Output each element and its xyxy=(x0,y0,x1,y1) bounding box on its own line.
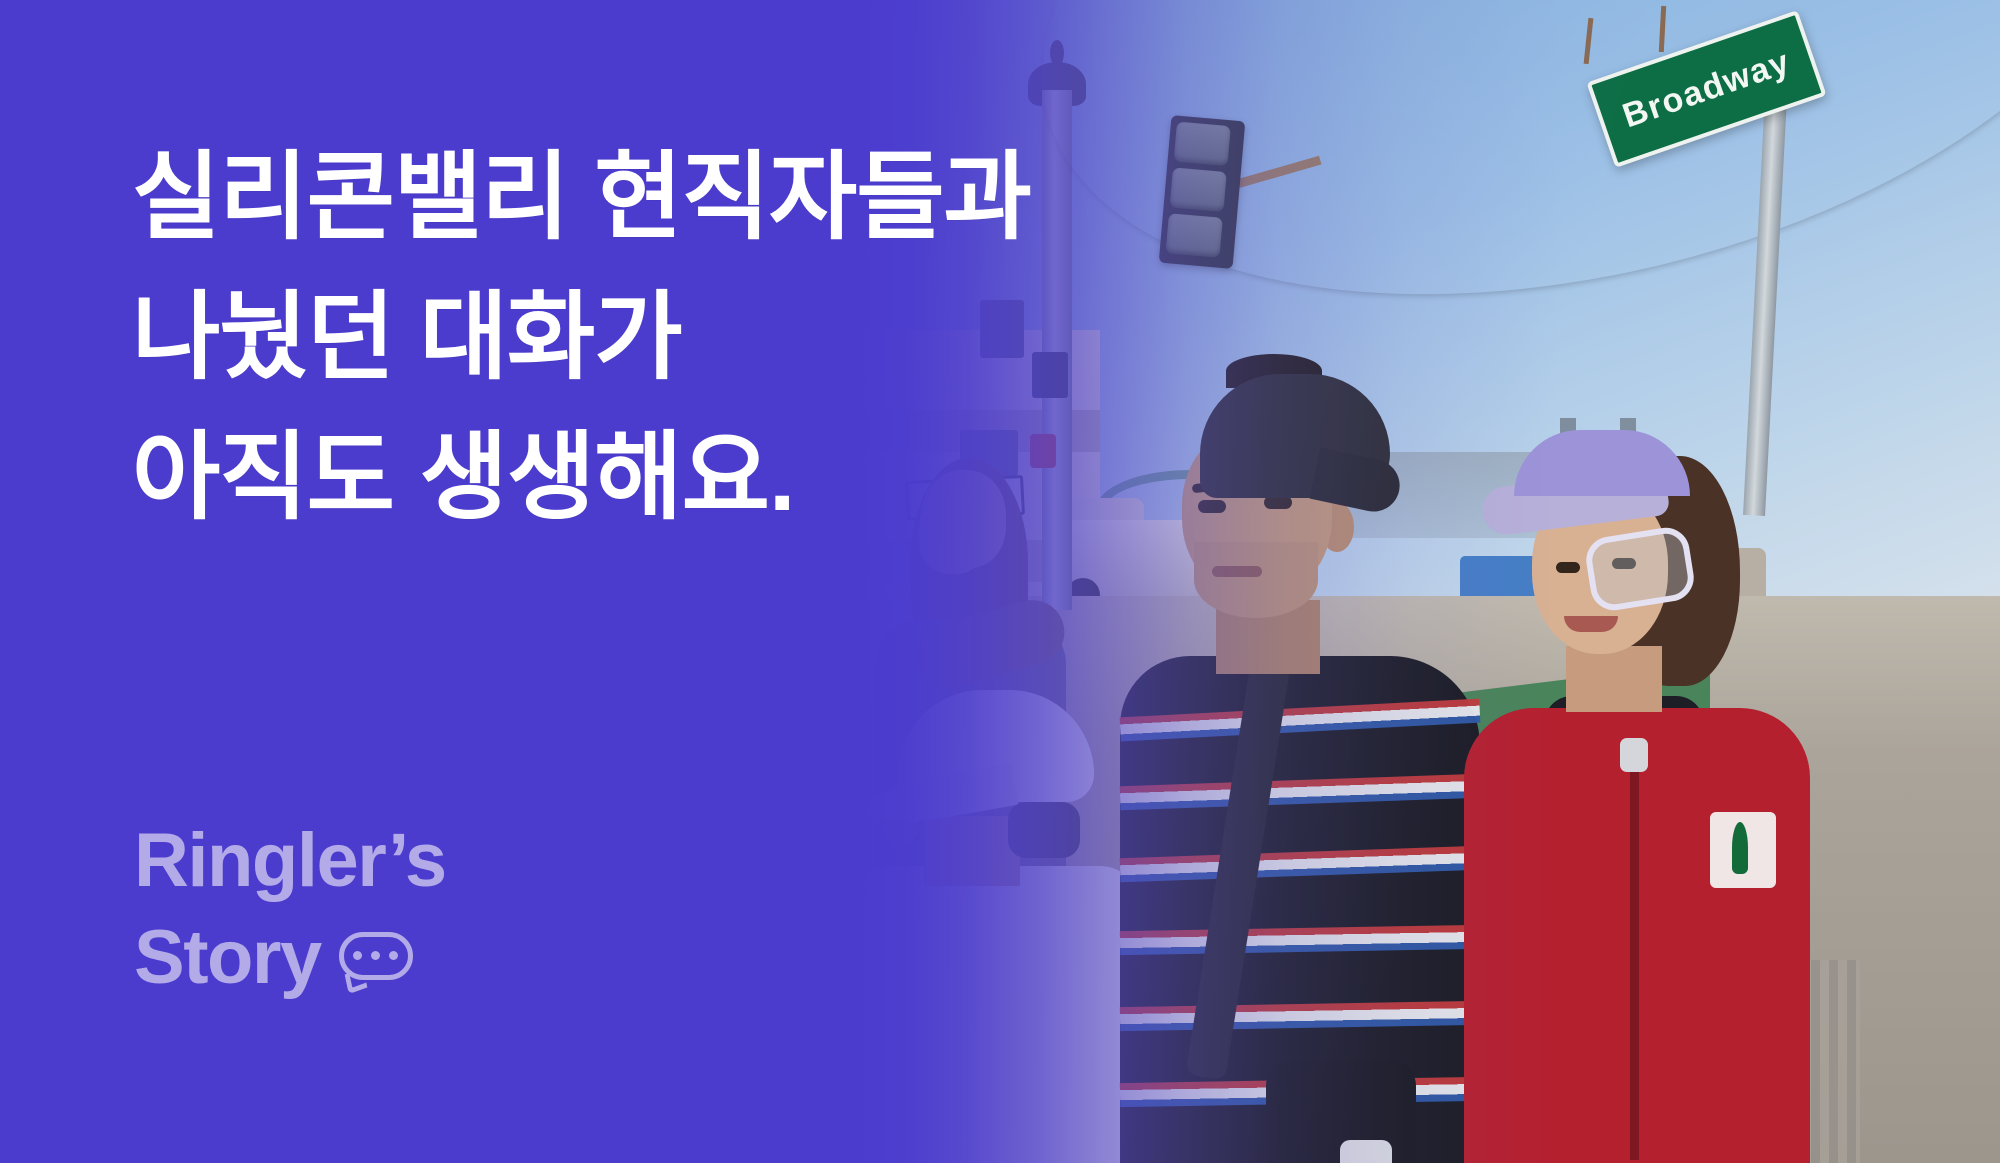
traffic-light xyxy=(1159,115,1246,269)
traffic-lamp-red xyxy=(1174,122,1231,167)
stanford-logo xyxy=(1706,808,1780,892)
mouth xyxy=(1564,616,1618,632)
story-banner: Broadway xyxy=(0,0,2000,1163)
brand-line-1: Ringler’s xyxy=(134,812,446,909)
page-title: 실리콘밸리 현직자들과 나눴던 대화가 아직도 생생해요. xyxy=(132,128,1031,548)
brand-block: Ringler’s Story xyxy=(134,812,446,1007)
mouth xyxy=(1212,566,1262,577)
eye xyxy=(1198,500,1226,513)
chat-bubble-dots-icon xyxy=(339,932,413,980)
jacket-zipper xyxy=(1630,740,1639,1160)
purple-visor xyxy=(1514,430,1690,496)
neck xyxy=(1566,646,1662,712)
wrist-watch xyxy=(1340,1140,1392,1163)
brand-line-2: Story xyxy=(134,909,321,1006)
text-content: 실리콘밸리 현직자들과 나눴던 대화가 아직도 생생해요. Ringler’s … xyxy=(0,0,1100,1163)
person-backwards-cap xyxy=(1130,360,1480,1163)
person-red-fleece xyxy=(1470,420,1810,1163)
traffic-lamp-yellow xyxy=(1170,167,1227,212)
chat-bubble-dots xyxy=(339,932,413,980)
zipper-pull xyxy=(1620,738,1648,772)
traffic-lamp-green xyxy=(1166,213,1223,258)
brand-line-2-row: Story xyxy=(134,909,446,1006)
jaw xyxy=(1194,542,1318,618)
eye xyxy=(1556,562,1580,573)
